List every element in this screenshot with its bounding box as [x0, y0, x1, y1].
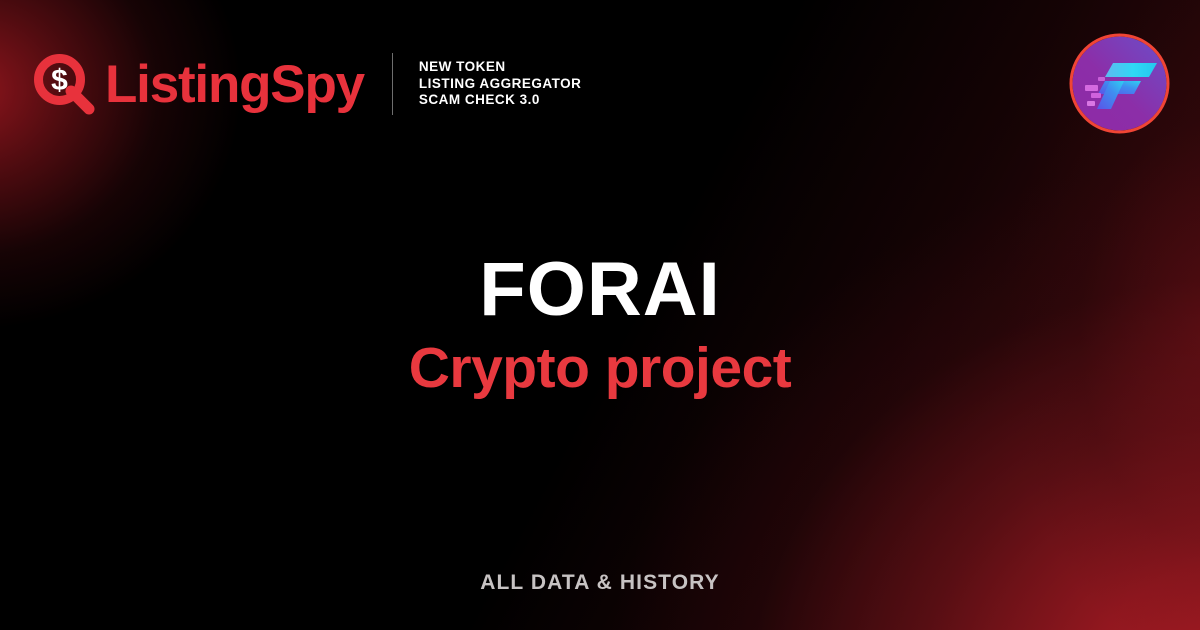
header-divider — [392, 53, 393, 115]
brand-name: ListingSpy — [105, 58, 364, 111]
tagline-line-2: LISTING AGGREGATOR — [419, 76, 582, 93]
tagline-line-1: NEW TOKEN — [419, 59, 582, 76]
brand-tagline: NEW TOKEN LISTING AGGREGATOR SCAM CHECK … — [419, 59, 582, 109]
footer-text: ALL DATA & HISTORY — [480, 571, 720, 594]
brand-header: $ ListingSpy NEW TOKEN LISTING AGGREGATO… — [34, 52, 581, 116]
tagline-line-3: SCAM CHECK 3.0 — [419, 92, 582, 109]
social-share-card: $ ListingSpy NEW TOKEN LISTING AGGREGATO… — [0, 0, 1200, 630]
forai-token-logo — [1067, 31, 1172, 136]
footer: ALL DATA & HISTORY — [0, 571, 1200, 595]
magnifier-dollar-icon: $ — [34, 54, 96, 116]
token-subtitle: Crypto project — [0, 332, 1200, 404]
token-name: FORAI — [0, 248, 1200, 332]
svg-text:$: $ — [51, 64, 68, 97]
token-headline-block: FORAI Crypto project — [0, 248, 1200, 404]
